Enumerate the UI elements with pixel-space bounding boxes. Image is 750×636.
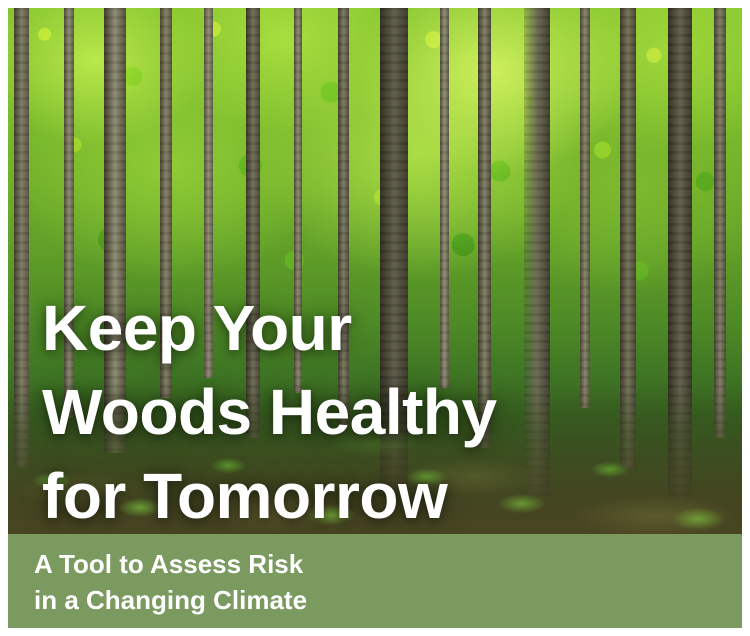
subtitle-band: A Tool to Assess Risk in a Changing Clim… (8, 534, 742, 628)
subtitle: A Tool to Assess Risk in a Changing Clim… (34, 546, 307, 618)
headline-line-3: for Tomorrow (42, 454, 642, 534)
forest-photo: Keep Your Woods Healthy for Tomorrow (8, 8, 742, 534)
page-title: Keep Your Woods Healthy for Tomorrow (42, 286, 642, 534)
headline-line-1: Keep Your (42, 286, 642, 370)
subtitle-line-1: A Tool to Assess Risk (34, 546, 307, 582)
poster: Keep Your Woods Healthy for Tomorrow A T… (0, 0, 750, 636)
headline-line-2: Woods Healthy (42, 370, 642, 454)
subtitle-line-2: in a Changing Climate (34, 582, 307, 618)
